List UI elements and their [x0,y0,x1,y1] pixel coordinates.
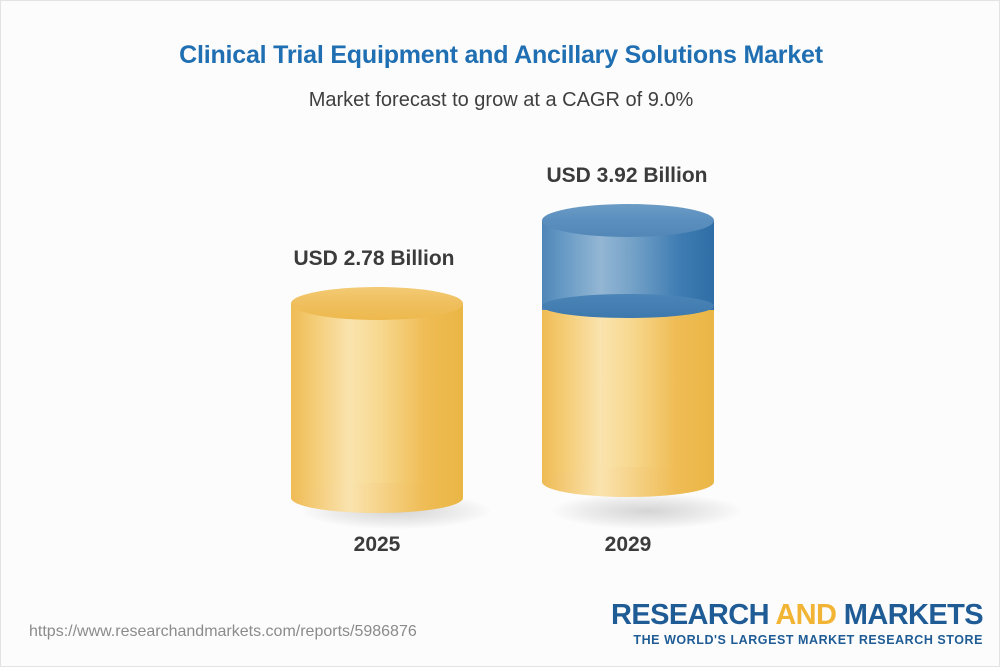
bar-body-2025 [291,303,463,498]
bar-category-label-2025: 2025 [294,533,460,557]
logo-research-text: RESEARCH [611,599,775,631]
research-and-markets-logo[interactable]: RESEARCH AND MARKETS THE WORLD'S LARGEST… [611,601,983,647]
bar-cylinder-2025[interactable] [291,287,463,513]
chart-canvas: Clinical Trial Equipment and Ancillary S… [0,0,1000,667]
chart-plot-area: USD 2.78 Billion 2025 USD 3.92 Billion [1,1,1000,667]
bar-value-label-2025: USD 2.78 Billion [241,247,507,271]
bar-top-cap-2025 [291,287,463,320]
bar-top-cap-2029 [542,204,714,237]
logo-markets-text: MARKETS [836,599,983,631]
bar-bottom-cap-2025 [291,483,463,513]
bar-segment-seam-2029 [542,294,714,318]
source-url[interactable]: https://www.researchandmarkets.com/repor… [29,623,417,641]
bar-body-gold-2029 [542,304,714,482]
logo-wordmark: RESEARCH AND MARKETS [611,601,983,631]
bar-category-label-2029: 2029 [545,533,711,557]
bar-bottom-cap-2029 [542,467,714,497]
bar-value-label-2029: USD 3.92 Billion [494,164,760,188]
bar-cylinder-2029[interactable] [542,204,714,513]
logo-tagline: THE WORLD'S LARGEST MARKET RESEARCH STOR… [611,633,983,647]
logo-and-text: AND [775,599,836,631]
